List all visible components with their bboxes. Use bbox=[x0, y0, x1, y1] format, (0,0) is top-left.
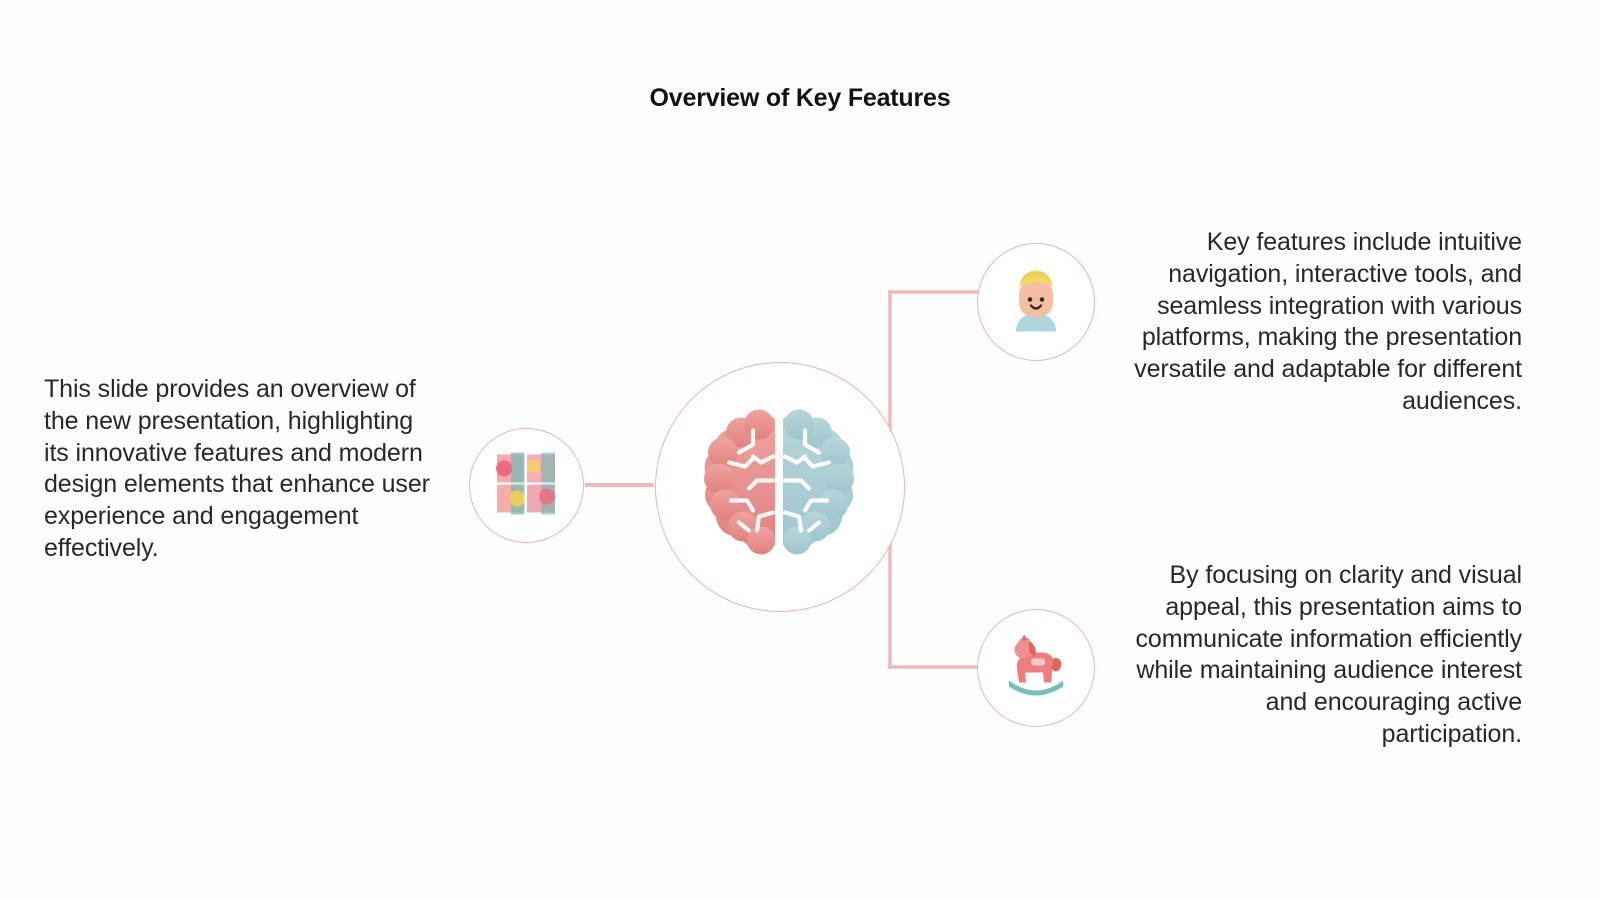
page-title: Overview of Key Features bbox=[0, 84, 1600, 113]
text-block-right-top: Key features include intuitive navigatio… bbox=[1130, 227, 1522, 418]
brain-central-fissure bbox=[775, 417, 781, 547]
person-avatar-icon bbox=[1006, 268, 1066, 337]
slide-root: Overview of Key Features bbox=[0, 0, 1600, 900]
avatar-face bbox=[1019, 280, 1053, 318]
avatar-eye-right bbox=[1040, 297, 1045, 302]
text-block-left: This slide provides an overview of the n… bbox=[44, 374, 444, 565]
rocking-horse-tail bbox=[1052, 658, 1061, 671]
text-block-right-bottom: By focusing on clarity and visual appeal… bbox=[1130, 560, 1522, 751]
node-bottom-right[interactable] bbox=[977, 609, 1095, 727]
node-center[interactable] bbox=[655, 362, 905, 612]
node-left[interactable] bbox=[469, 428, 584, 543]
rocking-horse-rocker bbox=[1009, 681, 1063, 696]
rocking-horse-icon bbox=[1003, 635, 1069, 702]
avatar-eye-left bbox=[1028, 297, 1033, 302]
mosaic-tiles-icon bbox=[491, 450, 563, 521]
brain-icon bbox=[695, 405, 865, 570]
node-top-right[interactable] bbox=[977, 243, 1095, 361]
